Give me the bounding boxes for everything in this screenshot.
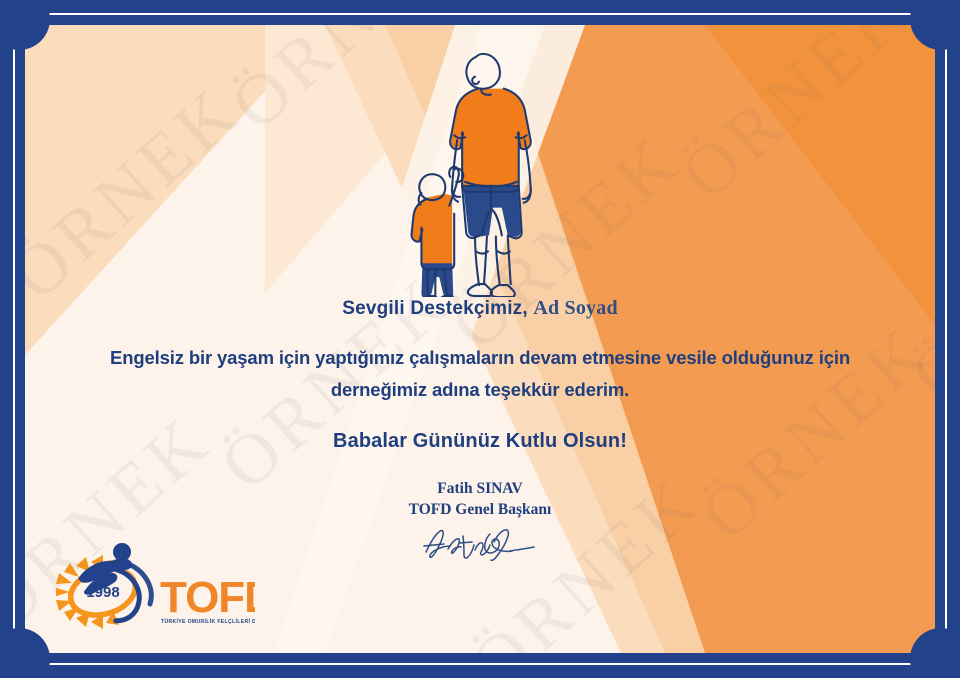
recipient-name: Ad Soyad [533, 297, 617, 319]
salutation: Sevgili Destekçimiz, Ad Soyad [53, 297, 907, 320]
headline: Babalar Gününüz Kutlu Olsun! [53, 430, 907, 453]
tofd-logo: 1998 TOFD TÜRKİYE OMURİLİK FELÇLİLERİ DE… [50, 536, 255, 631]
certificate-canvas: ÖRNEK ÖRNEK ÖRNEK ÖRNEK ÖRNEK ÖRNEK ÖRNE… [25, 25, 935, 653]
signer-name: Fatih SINAV [53, 479, 907, 500]
father-and-child-illustration [365, 37, 595, 297]
certificate-text-block: Sevgili Destekçimiz, Ad Soyad Engelsiz b… [25, 297, 935, 569]
salutation-prefix: Sevgili Destekçimiz, [342, 298, 528, 319]
body-line-2: derneğimiz adına teşekkür ederim. [331, 379, 629, 400]
logo-wordmark: TOFD [160, 573, 255, 622]
body-text: Engelsiz bir yaşam için yaptığımız çalış… [58, 342, 903, 406]
body-line-1: Engelsiz bir yaşam için yaptığımız çalış… [110, 347, 850, 368]
certificate: ÖRNEK ÖRNEK ÖRNEK ÖRNEK ÖRNEK ÖRNEK ÖRNE… [0, 0, 960, 678]
signer-title: TOFD Genel Başkanı [53, 500, 907, 521]
signature-image [420, 522, 540, 564]
logo-subtitle: TÜRKİYE OMURİLİK FELÇLİLERİ DERNEĞİ [161, 617, 255, 625]
